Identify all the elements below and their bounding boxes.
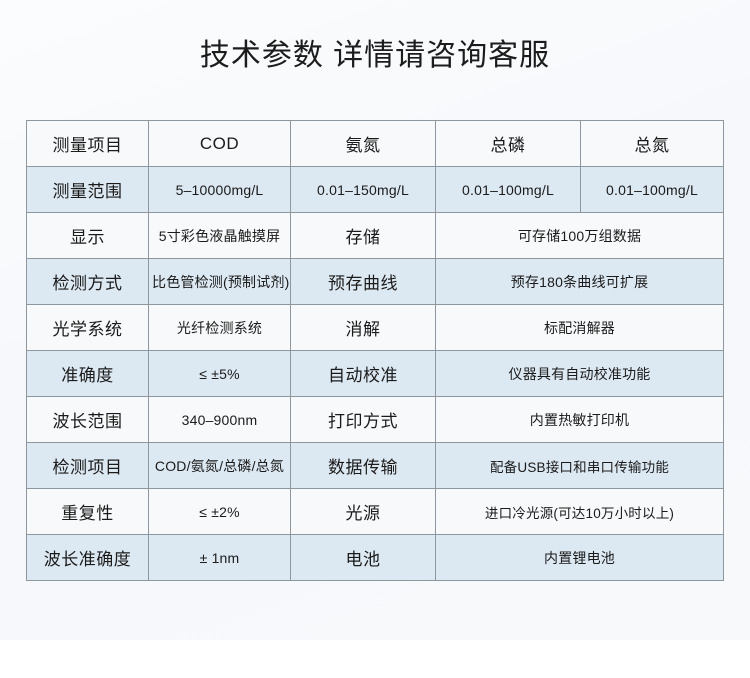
table-row-optical-system: 光学系统 光纤检测系统 消解 标配消解器: [27, 305, 724, 351]
row-midlabel-auto-calibration: 自动校准: [291, 351, 436, 397]
measurement-item-ammonia-nitrogen: 氨氮: [291, 121, 436, 167]
row-midvalue-digestion: 标配消解器: [436, 305, 724, 351]
row-value-detection-items: COD/氨氮/总磷/总氮: [149, 443, 291, 489]
spec-table-body: 测量项目 COD 氨氮 总磷 总氮 测量范围 5–10000mg/L 0.01–…: [27, 121, 724, 581]
table-row-repeatability: 重复性 ≤ ±2% 光源 进口冷光源(可达10万小时以上): [27, 489, 724, 535]
measurement-range-total-nitrogen: 0.01–100mg/L: [581, 167, 724, 213]
row-midvalue-light-source: 进口冷光源(可达10万小时以上): [436, 489, 724, 535]
row-label-display: 显示: [27, 213, 149, 259]
measurement-range-ammonia-nitrogen: 0.01–150mg/L: [291, 167, 436, 213]
table-row-measurement-items: 测量项目 COD 氨氮 总磷 总氮: [27, 121, 724, 167]
table-row-display: 显示 5寸彩色液晶触摸屏 存储 可存储100万组数据: [27, 213, 724, 259]
row-label-optical-system: 光学系统: [27, 305, 149, 351]
row-midlabel-battery: 电池: [291, 535, 436, 581]
row-label-accuracy: 准确度: [27, 351, 149, 397]
table-row-accuracy: 准确度 ≤ ±5% 自动校准 仪器具有自动校准功能: [27, 351, 724, 397]
row-midlabel-print-method: 打印方式: [291, 397, 436, 443]
technical-parameters-table: 测量项目 COD 氨氮 总磷 总氮 测量范围 5–10000mg/L 0.01–…: [26, 120, 724, 581]
measurement-item-total-phosphorus: 总磷: [436, 121, 581, 167]
row-value-wavelength-range: 340–900nm: [149, 397, 291, 443]
measurement-range-cod: 5–10000mg/L: [149, 167, 291, 213]
row-label-detection-method: 检测方式: [27, 259, 149, 305]
row-label-detection-items: 检测项目: [27, 443, 149, 489]
table-row-detection-items: 检测项目 COD/氨氮/总磷/总氮 数据传输 配备USB接口和串口传输功能: [27, 443, 724, 489]
row-value-detection-method: 比色管检测(预制试剂): [149, 259, 291, 305]
row-midlabel-light-source: 光源: [291, 489, 436, 535]
row-value-display: 5寸彩色液晶触摸屏: [149, 213, 291, 259]
measurement-item-total-nitrogen: 总氮: [581, 121, 724, 167]
row-value-wavelength-accuracy: ± 1nm: [149, 535, 291, 581]
row-label-repeatability: 重复性: [27, 489, 149, 535]
row-midlabel-digestion: 消解: [291, 305, 436, 351]
measurement-range-total-phosphorus: 0.01–100mg/L: [436, 167, 581, 213]
row-value-repeatability: ≤ ±2%: [149, 489, 291, 535]
row-midvalue-auto-calibration: 仪器具有自动校准功能: [436, 351, 724, 397]
row-value-optical-system: 光纤检测系统: [149, 305, 291, 351]
table-row-wavelength-range: 波长范围 340–900nm 打印方式 内置热敏打印机: [27, 397, 724, 443]
product-spec-page: 技术参数 详情请咨询客服 测量项目 COD 氨氮 总磷 总氮 测量范围 5–10…: [0, 0, 750, 678]
page-title: 技术参数 详情请咨询客服: [0, 36, 750, 76]
row-midlabel-prestored-curves: 预存曲线: [291, 259, 436, 305]
row-midvalue-battery: 内置锂电池: [436, 535, 724, 581]
row-label-measurement-range: 测量范围: [27, 167, 149, 213]
table-row-detection-method: 检测方式 比色管检测(预制试剂) 预存曲线 预存180条曲线可扩展: [27, 259, 724, 305]
row-midvalue-prestored-curves: 预存180条曲线可扩展: [436, 259, 724, 305]
row-value-accuracy: ≤ ±5%: [149, 351, 291, 397]
row-midlabel-data-transmission: 数据传输: [291, 443, 436, 489]
table-row-measurement-range: 测量范围 5–10000mg/L 0.01–150mg/L 0.01–100mg…: [27, 167, 724, 213]
row-midvalue-storage: 可存储100万组数据: [436, 213, 724, 259]
row-midvalue-print-method: 内置热敏打印机: [436, 397, 724, 443]
measurement-item-cod: COD: [149, 121, 291, 167]
row-label-measurement-items: 测量项目: [27, 121, 149, 167]
row-midvalue-data-transmission: 配备USB接口和串口传输功能: [436, 443, 724, 489]
row-midlabel-storage: 存储: [291, 213, 436, 259]
row-label-wavelength-range: 波长范围: [27, 397, 149, 443]
table-row-wavelength-accuracy: 波长准确度 ± 1nm 电池 内置锂电池: [27, 535, 724, 581]
row-label-wavelength-accuracy: 波长准确度: [27, 535, 149, 581]
